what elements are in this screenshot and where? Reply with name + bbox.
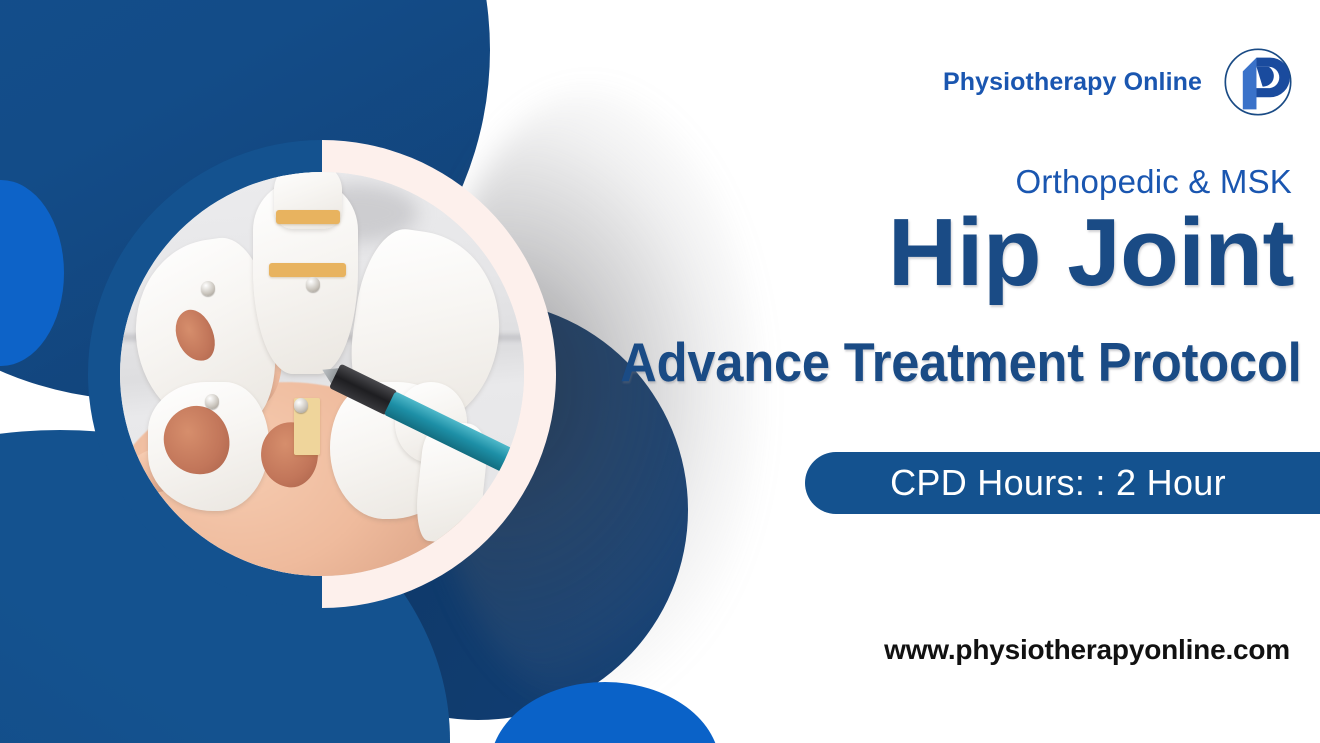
brand-name: Physiotherapy Online (943, 68, 1202, 97)
course-category: Orthopedic & MSK (1016, 163, 1292, 201)
cpd-hours-badge: CPD Hours: : 2 Hour (805, 452, 1320, 514)
intervertebral-disc (269, 263, 346, 277)
brand-logo[interactable]: Physiotherapy Online (943, 44, 1296, 120)
model-screw (201, 281, 216, 296)
intervertebral-disc (276, 210, 341, 224)
model-screw (294, 398, 309, 413)
page-subtitle: Advance Treatment Protocol (621, 332, 1302, 393)
physiotherapy-p-logo-icon (1220, 44, 1296, 120)
hero-photo (120, 172, 524, 576)
cpd-hours-label: CPD Hours: : 2 Hour (890, 462, 1226, 504)
page-title: Hip Joint (888, 205, 1294, 301)
website-url[interactable]: www.physiotherapyonline.com (884, 634, 1290, 666)
course-banner: Physiotherapy Online Orthopedic & MSK Hi… (0, 0, 1320, 743)
model-screw (205, 394, 220, 409)
model-screw (306, 277, 321, 292)
